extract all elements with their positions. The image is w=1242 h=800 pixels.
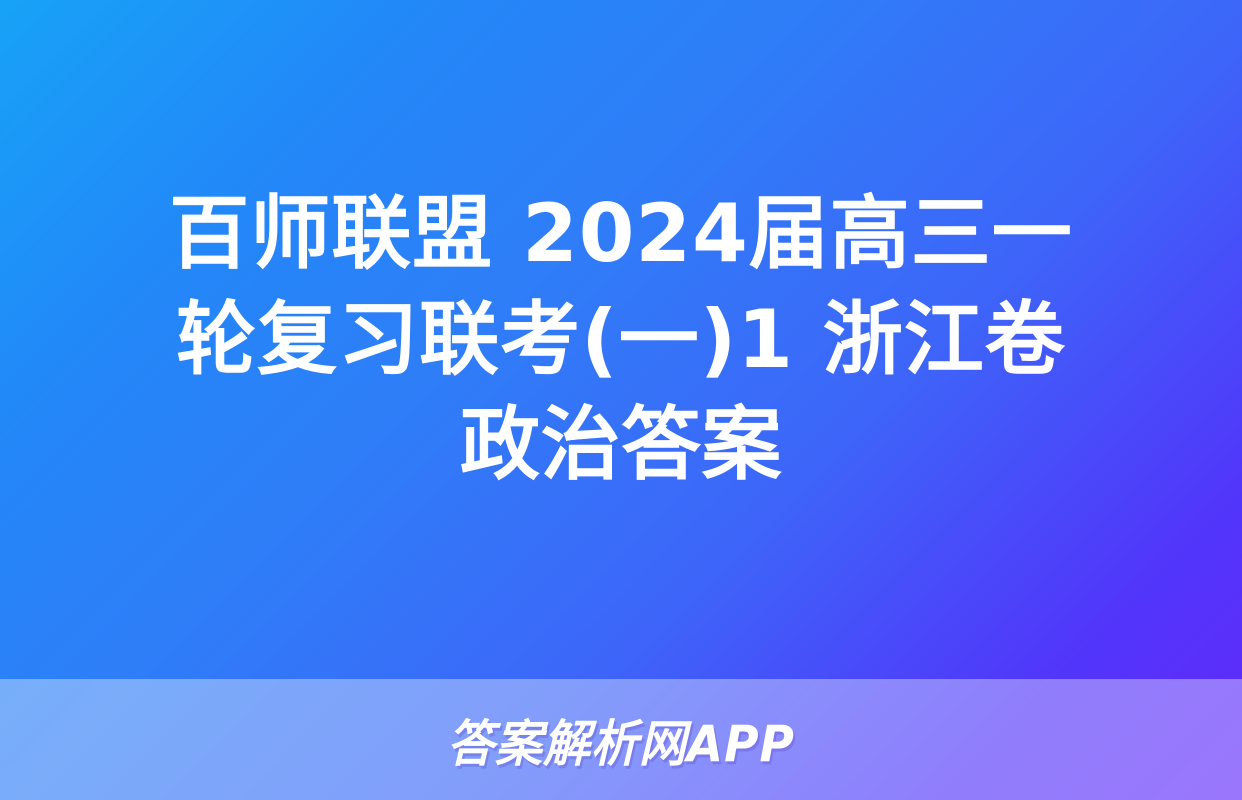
poster-canvas: 百师联盟 2024届高三一 轮复习联考(一)1 浙江卷 政治答案 答案解析网AP… xyxy=(0,0,1242,800)
title-line-2: 轮复习联考(一)1 浙江卷 xyxy=(176,287,1066,393)
watermark-label: 答案解析网APP xyxy=(447,704,795,776)
watermark-bar: 答案解析网APP xyxy=(0,679,1242,800)
title-line-1: 百师联盟 2024届高三一 xyxy=(169,181,1073,287)
title-block: 百师联盟 2024届高三一 轮复习联考(一)1 浙江卷 政治答案 xyxy=(0,0,1242,679)
title-line-3: 政治答案 xyxy=(460,392,782,498)
